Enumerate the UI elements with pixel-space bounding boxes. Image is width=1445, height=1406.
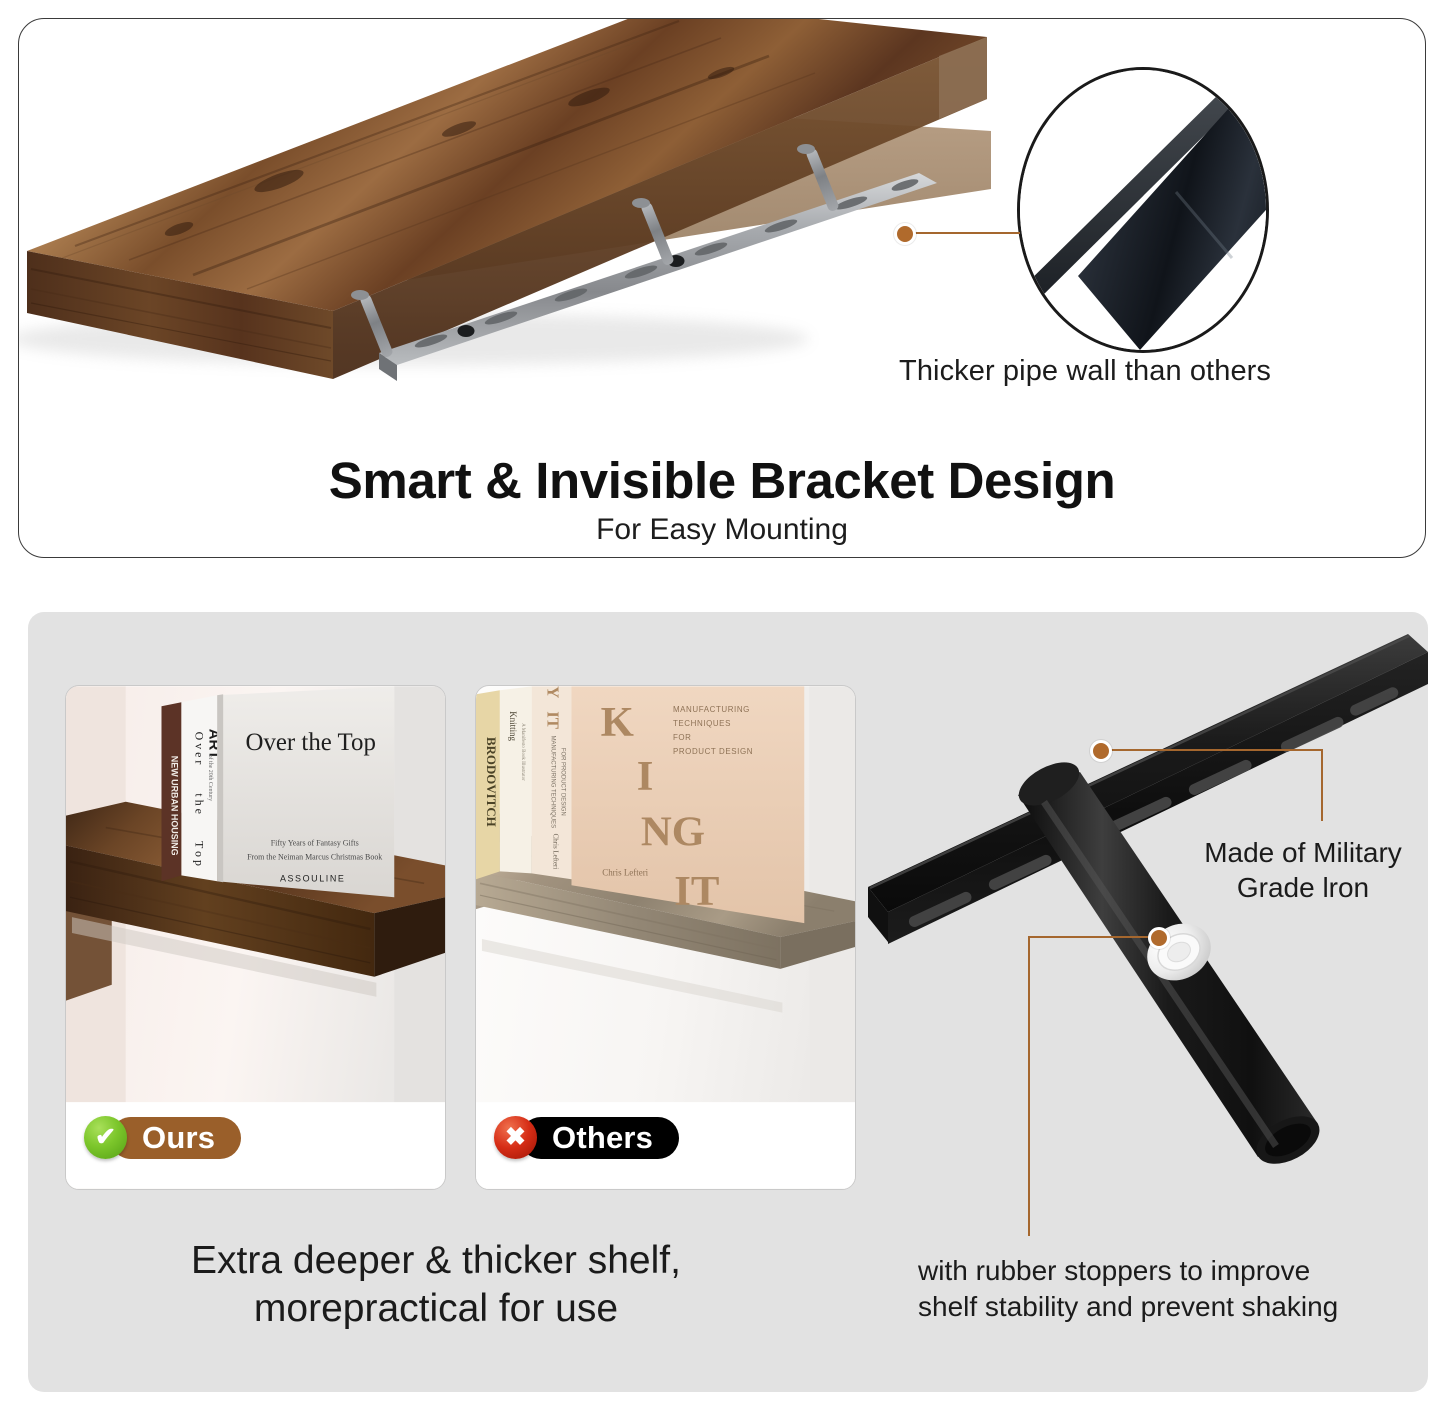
- check-icon: ✔: [84, 1116, 127, 1159]
- svg-text:FOR: FOR: [673, 733, 692, 742]
- svg-text:NG: NG: [641, 808, 705, 855]
- comparison-caption: Extra deeper & thicker shelf, morepracti…: [36, 1237, 836, 1333]
- thicker-pipe-callout-label: Thicker pipe wall than others: [899, 355, 1399, 388]
- thicker-pipe-dot-marker: [894, 223, 916, 245]
- page-subheadline: For Easy Mounting: [19, 513, 1425, 547]
- page-headline: Smart & Invisible Bracket Design: [19, 451, 1425, 510]
- comparison-caption-line1: Extra deeper & thicker shelf,: [36, 1237, 836, 1285]
- rubber-stopper-leader-v: [1028, 936, 1030, 1236]
- ours-comparison-card: NEW URBAN HOUSING O v e r ART t h e T o …: [65, 685, 446, 1190]
- ours-badge: ✔ Ours: [84, 1116, 241, 1159]
- rubber-stopper-callout-line1: with rubber stoppers to improve: [918, 1253, 1440, 1289]
- military-iron-leader-h: [1110, 749, 1323, 751]
- svg-text:MANUFACTURING: MANUFACTURING: [673, 705, 750, 714]
- pipe-wall-magnifier: [1017, 67, 1269, 353]
- black-bracket-illustration: [848, 612, 1428, 1272]
- svg-text:NEW URBAN HOUSING: NEW URBAN HOUSING: [169, 756, 179, 856]
- floating-shelf-illustration: [18, 18, 1039, 401]
- svg-text:Chris Lefteri: Chris Lefteri: [552, 834, 560, 870]
- svg-text:IT: IT: [674, 868, 719, 915]
- svg-text:IT: IT: [544, 711, 563, 730]
- cross-icon: ✖: [494, 1116, 537, 1159]
- svg-text:Knitting: Knitting: [508, 711, 518, 741]
- military-iron-callout: Made of Military Grade lron: [1172, 835, 1434, 905]
- military-iron-callout-line1: Made of Military: [1172, 835, 1434, 870]
- others-badge: ✖ Others: [494, 1116, 679, 1159]
- military-iron-dot-marker: [1090, 740, 1112, 762]
- ours-label: Ours: [110, 1117, 241, 1159]
- svg-text:of the 20th Century: of the 20th Century: [207, 755, 214, 801]
- thicker-pipe-leader-line: [914, 232, 1020, 234]
- svg-text:BRODOVITCH: BRODOVITCH: [484, 737, 499, 827]
- svg-text:I: I: [637, 753, 654, 800]
- others-label: Others: [520, 1117, 679, 1159]
- svg-text:Fifty Years of Fantasy Gifts: Fifty Years of Fantasy Gifts: [271, 838, 359, 847]
- others-comparison-card: BRODOVITCH Knitting A Manifesto Book Ill…: [475, 685, 856, 1190]
- rubber-stopper-dot-marker: [1148, 927, 1170, 949]
- rubber-stopper-leader-h: [1028, 936, 1150, 938]
- svg-text:K: K: [601, 699, 634, 746]
- svg-text:PRODUCT DESIGN: PRODUCT DESIGN: [673, 747, 753, 756]
- svg-text:T o p: T o p: [192, 841, 206, 866]
- svg-text:From the Neiman Marcus Christm: From the Neiman Marcus Christmas Book: [247, 852, 382, 861]
- svg-text:O v e r: O v e r: [192, 732, 206, 765]
- military-iron-callout-line2: Grade lron: [1172, 870, 1434, 905]
- military-iron-leader-v: [1321, 749, 1323, 821]
- svg-text:A Manifesto Book Illustrator: A Manifesto Book Illustrator: [520, 723, 525, 781]
- svg-text:Chris Lefteri: Chris Lefteri: [602, 867, 648, 877]
- svg-text:Y: Y: [544, 686, 563, 698]
- svg-text:MANUFACTURING TECHNIQUES: MANUFACTURING TECHNIQUES: [550, 736, 556, 829]
- svg-text:TECHNIQUES: TECHNIQUES: [673, 719, 731, 728]
- svg-text:t h e: t h e: [192, 793, 206, 814]
- svg-text:ASSOULINE: ASSOULINE: [280, 873, 345, 883]
- bracket-design-panel: Thicker pipe wall than others Smart & In…: [18, 18, 1426, 558]
- comparison-caption-line2: morepractical for use: [36, 1285, 836, 1333]
- rubber-stopper-callout: with rubber stoppers to improve shelf st…: [918, 1253, 1440, 1326]
- svg-text:FOR PRODUCT DESIGN: FOR PRODUCT DESIGN: [560, 748, 566, 816]
- svg-text:Over the Top: Over the Top: [246, 729, 376, 756]
- rubber-stopper-callout-line2: shelf stability and prevent shaking: [918, 1289, 1440, 1325]
